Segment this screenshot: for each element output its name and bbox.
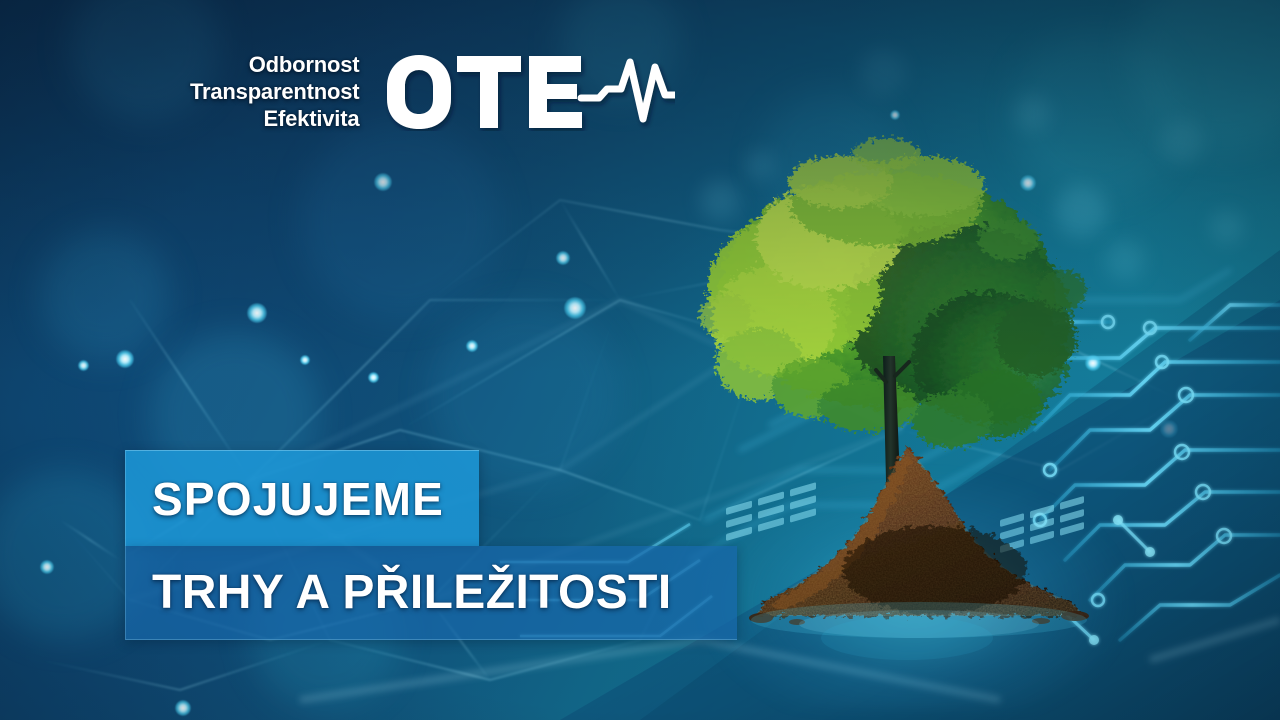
ote-marketing-banner: Odbornost Transparentnost Efektivita <box>0 0 1280 720</box>
logo-tagline-line-2: Transparentnost <box>190 79 359 106</box>
headline-line-2: TRHY A PŘILEŽITOSTI <box>152 565 672 620</box>
logo-tagline: Odbornost Transparentnost Efektivita <box>190 52 359 132</box>
ote-logo[interactable]: Odbornost Transparentnost Efektivita <box>190 52 675 132</box>
ote-wordmark <box>385 53 675 131</box>
logo-tagline-line-3: Efektivita <box>190 106 359 133</box>
headline-band-primary: SPOJUJEME <box>125 450 479 546</box>
headline-band-secondary: TRHY A PŘILEŽITOSTI <box>125 546 737 640</box>
headline-line-1: SPOJUJEME <box>152 472 444 526</box>
ecg-waveform-icon <box>581 62 675 119</box>
logo-tagline-line-1: Odbornost <box>190 52 359 79</box>
